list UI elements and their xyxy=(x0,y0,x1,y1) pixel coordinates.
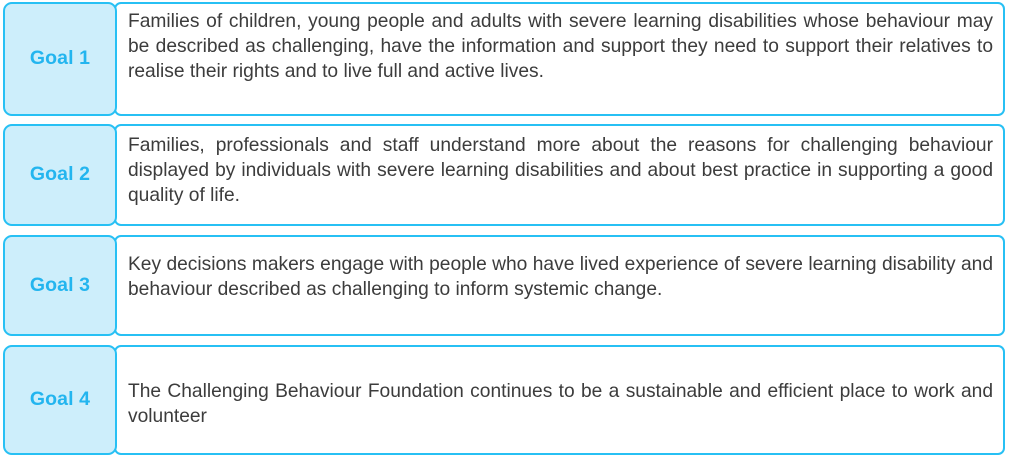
goal-description-4: The Challenging Behaviour Foundation con… xyxy=(128,379,993,429)
table-row: Goal 1 Families of children, young peopl… xyxy=(3,2,1005,116)
goal-label-cell-2: Goal 2 xyxy=(3,124,117,226)
table-row: Goal 2 Families, professionals and staff… xyxy=(3,124,1005,226)
goal-label-2: Goal 2 xyxy=(30,165,90,185)
goal-label-3: Goal 3 xyxy=(30,276,90,296)
goal-description-2: Families, professionals and staff unders… xyxy=(128,133,993,209)
goals-table: Goal 1 Families of children, young peopl… xyxy=(0,0,1009,465)
goal-description-3: Key decisions makers engage with people … xyxy=(128,252,993,302)
table-row: Goal 4 The Challenging Behaviour Foundat… xyxy=(3,345,1005,455)
goal-label-4: Goal 4 xyxy=(30,390,90,410)
goal-description-cell-3: Key decisions makers engage with people … xyxy=(114,235,1005,336)
goal-description-cell-2: Families, professionals and staff unders… xyxy=(114,124,1005,226)
table-row: Goal 3 Key decisions makers engage with … xyxy=(3,235,1005,336)
goal-label-cell-4: Goal 4 xyxy=(3,345,117,455)
goal-label-cell-1: Goal 1 xyxy=(3,2,117,116)
goal-description-1: Families of children, young people and a… xyxy=(128,9,993,85)
goal-label-cell-3: Goal 3 xyxy=(3,235,117,336)
goal-description-cell-4: The Challenging Behaviour Foundation con… xyxy=(114,345,1005,455)
goal-label-1: Goal 1 xyxy=(30,49,90,69)
goal-description-cell-1: Families of children, young people and a… xyxy=(114,2,1005,116)
